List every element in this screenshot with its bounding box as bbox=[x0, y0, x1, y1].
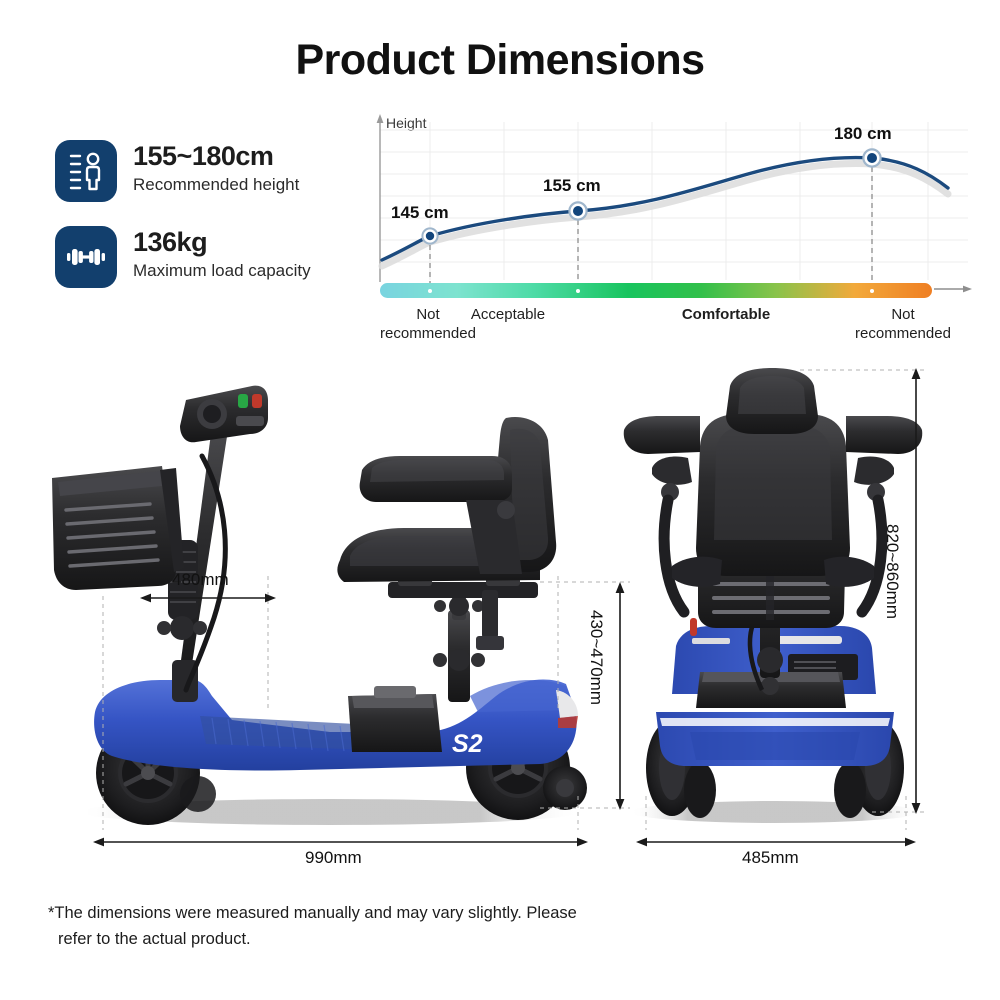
footnote: *The dimensions were measured manually a… bbox=[48, 900, 688, 953]
zone-label-line1: Acceptable bbox=[471, 306, 545, 323]
data-point-label-145: 145 cm bbox=[391, 203, 449, 223]
spec-label: Maximum load capacity bbox=[133, 260, 311, 282]
spec-item-max-load: 136kg Maximum load capacity bbox=[55, 226, 365, 288]
spec-list: 155~180cm Recommended height 136kg Maxim… bbox=[55, 140, 365, 312]
dimension-label-overall-length: 990mm bbox=[305, 848, 362, 868]
data-point-label-180: 180 cm bbox=[834, 124, 892, 144]
footnote-line-1: *The dimensions were measured manually a… bbox=[48, 904, 577, 922]
dimension-label-seat-to-tiller: 480mm bbox=[172, 570, 229, 590]
bar-tick-145 bbox=[428, 289, 432, 293]
zone-label-line2: recommended bbox=[855, 325, 951, 342]
comfort-gradient-bar bbox=[380, 283, 932, 298]
spec-label: Recommended height bbox=[133, 174, 299, 196]
model-badge-label: S2 bbox=[452, 730, 483, 758]
spec-value: 136kg bbox=[133, 228, 311, 258]
height-comfort-chart: Height bbox=[368, 108, 978, 348]
dimension-label-overall-width: 485mm bbox=[742, 848, 799, 868]
spec-item-recommended-height: 155~180cm Recommended height bbox=[55, 140, 365, 202]
side-view-illustration: S2 bbox=[52, 386, 587, 825]
spec-value: 155~180cm bbox=[133, 142, 299, 172]
spec-item-text: 155~180cm Recommended height bbox=[133, 140, 299, 196]
data-point-label-155: 155 cm bbox=[543, 176, 601, 196]
dimension-label-seat-height: 430~470mm bbox=[586, 610, 606, 705]
page-title: Product Dimensions bbox=[0, 36, 1000, 85]
bar-tick-155 bbox=[576, 289, 580, 293]
zone-label-line1: Not bbox=[891, 306, 914, 323]
product-illustration-svg: S2 bbox=[0, 360, 1000, 880]
zone-label-not-recommended-high: Not recommended bbox=[843, 306, 963, 344]
footnote-line-2: refer to the actual product. bbox=[48, 930, 251, 948]
zone-label-line2: recommended bbox=[380, 325, 476, 342]
rear-view-illustration bbox=[624, 368, 923, 823]
spec-item-text: 136kg Maximum load capacity bbox=[133, 226, 311, 282]
zone-label-comfortable: Comfortable bbox=[666, 306, 786, 325]
zone-label-acceptable: Acceptable bbox=[453, 306, 563, 325]
person-height-ruler-icon bbox=[55, 140, 117, 202]
product-dimension-area: S2 bbox=[0, 360, 1000, 880]
dimension-label-overall-height: 820~860mm bbox=[882, 524, 902, 619]
dumbbell-icon bbox=[55, 226, 117, 288]
comfort-curve bbox=[382, 158, 948, 260]
zone-label-line1: Comfortable bbox=[682, 306, 770, 323]
bar-tick-180 bbox=[870, 289, 874, 293]
zone-label-line1: Not bbox=[416, 306, 439, 323]
